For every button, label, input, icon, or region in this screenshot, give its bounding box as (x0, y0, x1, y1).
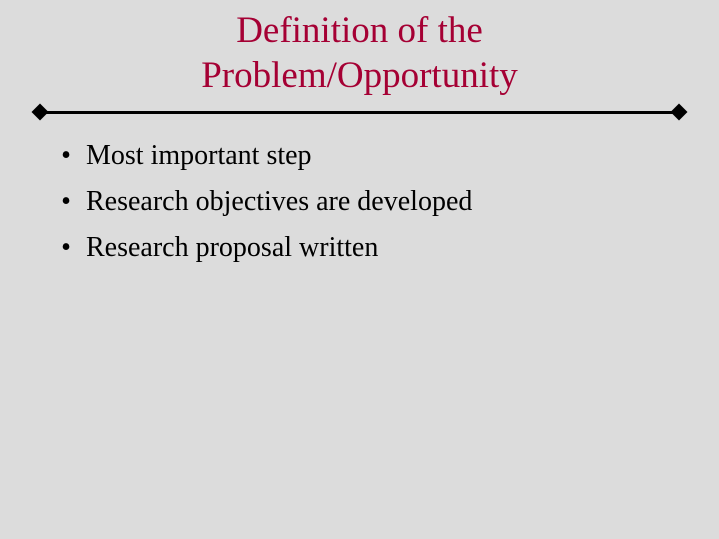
list-item-label: Research proposal written (86, 225, 378, 271)
list-item: • Most important step (55, 133, 695, 179)
bullet-point-icon: • (55, 133, 77, 179)
title-divider (33, 104, 686, 121)
list-item: • Research proposal written (55, 225, 695, 271)
bullet-point-icon: • (55, 179, 77, 225)
bullet-point-icon: • (55, 225, 77, 271)
list-item: • Research objectives are developed (55, 179, 695, 225)
slide-title-line-2: Problem/Opportunity (0, 53, 719, 98)
presentation-slide: Definition of the Problem/Opportunity • … (0, 0, 719, 539)
slide-title-line-1: Definition of the (0, 8, 719, 53)
list-item-label: Research objectives are developed (86, 179, 472, 225)
bullet-list: • Most important step • Research objecti… (55, 133, 695, 271)
list-item-label: Most important step (86, 133, 312, 179)
divider-line (41, 111, 678, 114)
diamond-icon-right (671, 104, 688, 121)
slide-title: Definition of the Problem/Opportunity (0, 8, 719, 98)
